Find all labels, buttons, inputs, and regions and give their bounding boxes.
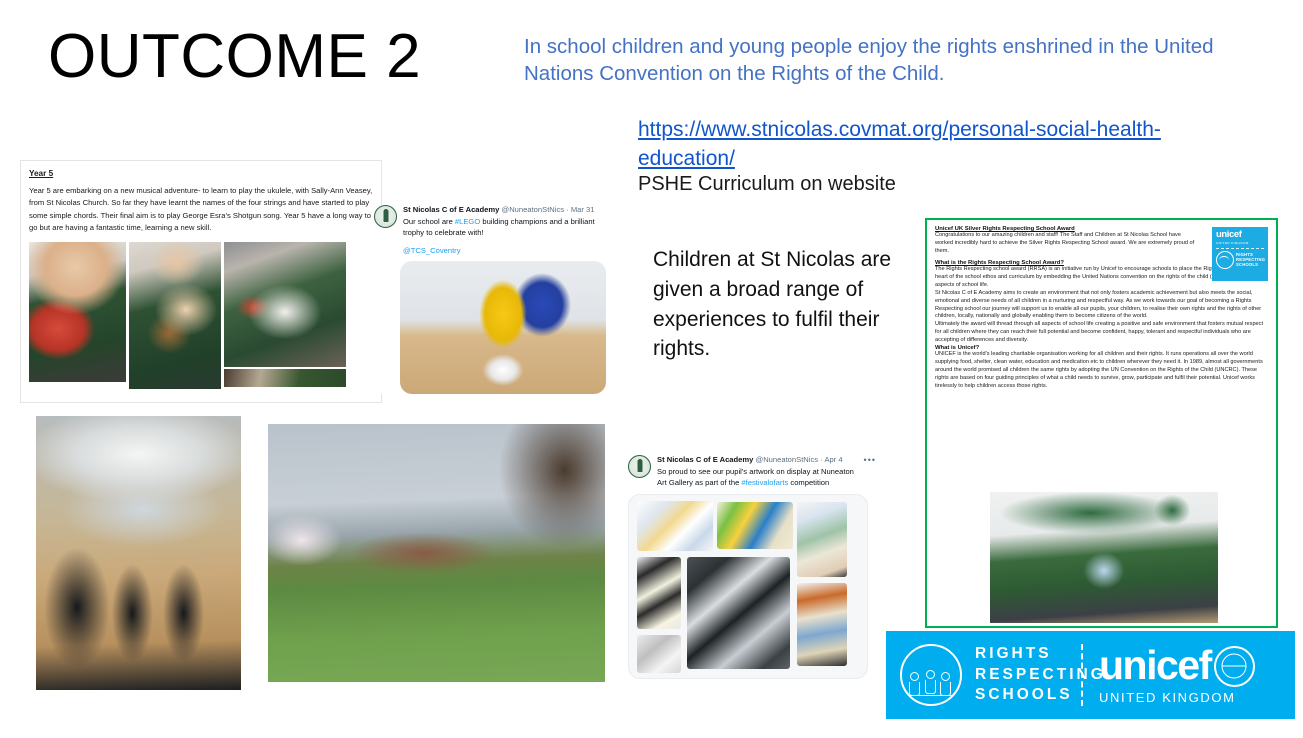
child-figure (940, 672, 950, 694)
unicef-wordmark: unicef (1216, 230, 1264, 240)
tweet-byline: St Nicolas C of E Academy @NuneatonStNic… (403, 205, 610, 215)
page-title: OUTCOME 2 (48, 24, 421, 89)
unicef-logo-group: unicef UNITED KINGDOM (1099, 646, 1255, 705)
avatar (628, 455, 651, 478)
pshe-caption: PSHE Curriculum on website (638, 173, 896, 196)
ukulele-photo-row (29, 242, 373, 389)
tweet-handle[interactable]: @NuneatonStNics (755, 455, 818, 464)
tweet-text-after: competition (788, 478, 829, 487)
tweet-mention[interactable]: @TCS_Coventry (403, 246, 610, 255)
art-tile (637, 501, 713, 551)
unicef-award-document: Unicef UK Silver Rights Respecting Schoo… (925, 218, 1278, 628)
tweet-hashtag[interactable]: #festivalofarts (741, 478, 788, 487)
unicef-rights-respecting-schools-banner: RIGHTS RESPECTING SCHOOLS unicef UNITED … (886, 631, 1295, 719)
tweet-card-art[interactable]: ••• St Nicolas C of E Academy @NuneatonS… (628, 455, 876, 679)
child-figure (909, 672, 919, 694)
award-presentation-photo (990, 492, 1218, 623)
badge-divider (1216, 248, 1264, 249)
child-figure (925, 670, 935, 692)
art-gallery-media-grid[interactable] (628, 494, 868, 679)
school-hall-photo (36, 416, 241, 690)
tweet-card-trophy[interactable]: St Nicolas C of E Academy @NuneatonStNic… (374, 205, 610, 394)
tweet-header: St Nicolas C of E Academy @NuneatonStNic… (374, 205, 610, 255)
unicef-logo-row: unicef (1099, 646, 1255, 687)
art-tile (797, 583, 847, 666)
art-tile (797, 502, 847, 577)
tweet-hashtag[interactable]: #LEGO (455, 217, 480, 226)
ground-line (909, 695, 953, 696)
rrs-left-group: RIGHTS RESPECTING SCHOOLS (886, 644, 1079, 706)
award-text-column: Unicef UK Silver Rights Respecting Schoo… (935, 226, 1197, 266)
ukulele-photo-1 (29, 242, 126, 382)
rrs-line-3: SCHOOLS (975, 685, 1106, 706)
badge-rrs-row: RIGHTS RESPECTING SCHOOLS (1216, 251, 1264, 269)
tweet-date: Apr 4 (824, 455, 842, 464)
tweet-text-before: Our school are (403, 217, 455, 226)
tweet-date: Mar 31 (571, 205, 595, 214)
tweet-header: ••• St Nicolas C of E Academy @NuneatonS… (628, 455, 876, 488)
tweet-handle[interactable]: @NuneatonStNics (501, 205, 564, 214)
unicef-globe-emblem-icon (1214, 646, 1255, 687)
unicef-country-label: UNITED KINGDOM (1099, 690, 1255, 705)
pshe-website-link[interactable]: https://www.stnicolas.covmat.org/persona… (638, 116, 1238, 174)
art-tile (717, 502, 793, 549)
unicef-rrs-badge: unicef UNITED KINGDOM RIGHTS RESPECTING … (1212, 227, 1268, 281)
tweet-separator: · (566, 205, 569, 214)
ukulele-classroom-photo (224, 242, 346, 367)
tweet-account-name: St Nicolas C of E Academy (657, 455, 753, 464)
tweet-byline: ••• St Nicolas C of E Academy @NuneatonS… (657, 455, 876, 465)
tweet-body: So proud to see our pupil's artwork on d… (657, 466, 876, 488)
children-circle-icon (1216, 251, 1234, 269)
avatar (374, 205, 397, 228)
rrs-line-2: RESPECTING (975, 665, 1106, 686)
children-holding-hands-icon (900, 644, 962, 706)
art-tile (637, 557, 681, 629)
ukulele-classroom-strip (224, 369, 346, 387)
award-intro: Congratulations to our amazing children … (935, 232, 1197, 256)
unicef-wordmark: unicef (1099, 647, 1211, 685)
tweet-account-name: St Nicolas C of E Academy (403, 205, 499, 214)
header-statement: In school children and young people enjo… (524, 33, 1236, 88)
unicef-country-label: UNITED KINGDOM (1216, 241, 1264, 245)
children-experiences-statement: Children at St Nicolas are given a broad… (653, 245, 901, 364)
more-options-icon[interactable]: ••• (864, 455, 876, 467)
year5-document: Year 5 Year 5 are embarking on a new mus… (20, 160, 382, 403)
art-tile (637, 635, 681, 673)
award-q1-p2: St Nicolas C of E Academy aims to create… (935, 290, 1268, 322)
year5-heading: Year 5 (29, 169, 373, 178)
trophy-photo[interactable] (400, 261, 606, 394)
art-tile (687, 557, 790, 669)
rrs-line-1: RIGHTS (975, 644, 1106, 665)
tweet-body: Our school are #LEGO building champions … (403, 216, 610, 238)
banner-divider (1081, 644, 1083, 706)
award-q2-p1: UNICEF is the world's leading charitable… (935, 351, 1268, 391)
award-q1-p3: Ultimately the award will thread through… (935, 321, 1268, 345)
tweet-separator: · (820, 455, 823, 464)
ukulele-photo-2 (129, 242, 221, 389)
rrs-wordmark: RIGHTS RESPECTING SCHOOLS (975, 644, 1106, 706)
rights-respecting-schools-label: RIGHTS RESPECTING SCHOOLS (1236, 252, 1265, 267)
year5-body-text: Year 5 are embarking on a new musical ad… (29, 185, 373, 234)
football-field-photo (268, 424, 605, 682)
